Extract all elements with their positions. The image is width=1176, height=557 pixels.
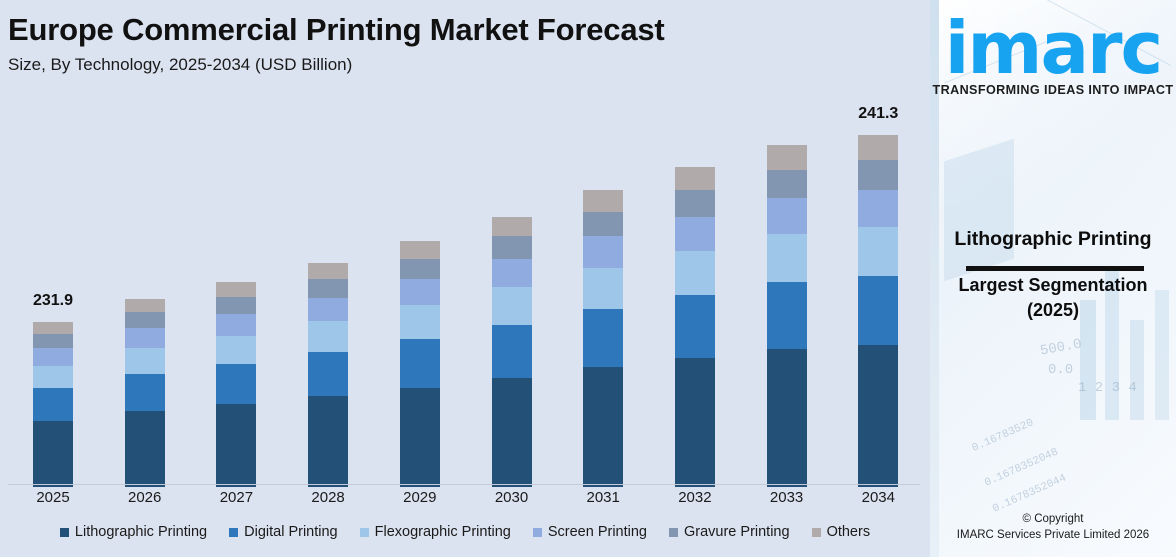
largest-segment-caption: Largest Segmentation	[930, 275, 1176, 296]
x-tick-label: 2034	[838, 489, 918, 506]
legend-item-lithographic-printing[interactable]: Lithographic Printing	[60, 524, 207, 540]
bar-segment[interactable]	[675, 295, 715, 358]
bar-segment[interactable]	[858, 160, 898, 190]
legend-label: Gravure Printing	[684, 524, 790, 540]
chart-panel: Europe Commercial Printing Market Foreca…	[0, 0, 930, 557]
bar-segment[interactable]	[216, 314, 256, 336]
bar-segment[interactable]	[216, 364, 256, 404]
stacked-bar[interactable]	[125, 299, 165, 487]
legend-swatch-icon	[812, 528, 821, 537]
bar-segment[interactable]	[125, 312, 165, 328]
bar-segment[interactable]	[767, 198, 807, 234]
stacked-bar[interactable]	[767, 145, 807, 487]
chart-subtitle: Size, By Technology, 2025-2034 (USD Bill…	[8, 55, 352, 75]
bar-segment[interactable]	[125, 411, 165, 487]
bar-segment[interactable]	[767, 349, 807, 487]
bar-segment[interactable]	[583, 367, 623, 487]
bar-segment[interactable]	[583, 190, 623, 211]
largest-segment-name: Lithographic Printing	[930, 228, 1176, 251]
bar-segment[interactable]	[125, 374, 165, 411]
bar-segment[interactable]	[33, 334, 73, 348]
bar-segment[interactable]	[400, 388, 440, 487]
bar-segment[interactable]	[308, 263, 348, 279]
bar-segment[interactable]	[492, 287, 532, 324]
legend-label: Others	[827, 524, 871, 540]
x-tick-label: 2029	[380, 489, 460, 506]
x-tick-label: 2027	[196, 489, 276, 506]
bar-segment[interactable]	[858, 227, 898, 276]
stacked-bar[interactable]	[675, 167, 715, 487]
legend-swatch-icon	[533, 528, 542, 537]
chart-title: Europe Commercial Printing Market Foreca…	[8, 12, 665, 48]
x-tick-label: 2032	[655, 489, 735, 506]
bar-segment[interactable]	[675, 217, 715, 251]
bar-segment[interactable]	[216, 336, 256, 364]
bar-segment[interactable]	[216, 282, 256, 297]
stacked-bar[interactable]	[308, 263, 348, 488]
bar-segment[interactable]	[216, 404, 256, 487]
bar-segment[interactable]	[767, 170, 807, 199]
bar-segment[interactable]	[858, 276, 898, 345]
stacked-bar[interactable]	[216, 282, 256, 487]
bar-segment[interactable]	[308, 396, 348, 487]
plot-area: 231.9241.3	[0, 95, 930, 487]
bar-segment[interactable]	[33, 421, 73, 487]
bar-segment[interactable]	[675, 251, 715, 295]
bar-segment[interactable]	[216, 297, 256, 314]
bar-value-label: 231.9	[0, 292, 113, 310]
bar-segment[interactable]	[400, 279, 440, 305]
stacked-bar[interactable]	[492, 217, 532, 487]
bar-segment[interactable]	[33, 348, 73, 365]
legend-label: Digital Printing	[244, 524, 338, 540]
bar-segment[interactable]	[492, 236, 532, 259]
bar-segment[interactable]	[492, 325, 532, 378]
bar-segment[interactable]	[583, 236, 623, 267]
x-tick-label: 2026	[105, 489, 185, 506]
legend-item-screen-printing[interactable]: Screen Printing	[533, 524, 647, 540]
imarc-logo: imarc TRANSFORMING IDEAS INTO IMPACT	[930, 16, 1176, 97]
legend-label: Screen Printing	[548, 524, 647, 540]
bar-segment[interactable]	[400, 339, 440, 388]
bar-segment[interactable]	[400, 305, 440, 339]
bar-segment[interactable]	[33, 322, 73, 334]
bar-segment[interactable]	[308, 321, 348, 352]
x-tick-label: 2028	[288, 489, 368, 506]
decorative-shape-4	[1130, 320, 1144, 420]
stacked-bar[interactable]	[33, 322, 73, 487]
legend-label: Flexographic Printing	[375, 524, 511, 540]
bar-segment[interactable]	[125, 328, 165, 348]
bar-segment[interactable]	[125, 348, 165, 374]
bar-segment[interactable]	[583, 309, 623, 367]
stacked-bar[interactable]	[583, 190, 623, 487]
bar-segment[interactable]	[858, 135, 898, 160]
bar-segment[interactable]	[583, 268, 623, 309]
bar-segment[interactable]	[675, 358, 715, 487]
bar-segment[interactable]	[308, 279, 348, 298]
largest-segment-year: (2025)	[930, 300, 1176, 321]
bar-segment[interactable]	[675, 167, 715, 190]
bar-segment[interactable]	[308, 298, 348, 322]
bar-segment[interactable]	[492, 378, 532, 487]
bar-segment[interactable]	[858, 345, 898, 487]
legend-swatch-icon	[669, 528, 678, 537]
legend-swatch-icon	[60, 528, 69, 537]
brand-panel: 0.1678352048 0.1678352044 0.16783520 1 2…	[930, 0, 1176, 557]
copyright-line-2: IMARC Services Private Limited 2026	[930, 529, 1176, 541]
bar-segment[interactable]	[400, 241, 440, 259]
x-tick-label: 2033	[747, 489, 827, 506]
stacked-bar[interactable]	[858, 135, 898, 487]
x-tick-label: 2025	[13, 489, 93, 506]
bar-segment[interactable]	[492, 217, 532, 237]
bar-segment[interactable]	[583, 212, 623, 237]
bar-segment[interactable]	[858, 190, 898, 227]
bar-segment[interactable]	[767, 282, 807, 349]
divider-rule	[966, 266, 1144, 271]
decorative-number-5: 0.0	[1048, 362, 1073, 378]
x-tick-label: 2031	[563, 489, 643, 506]
chart-legend: Lithographic PrintingDigital PrintingFle…	[0, 524, 930, 540]
decorative-number-4: 1 2 3 4	[1078, 380, 1137, 396]
legend-item-digital-printing[interactable]: Digital Printing	[229, 524, 338, 540]
copyright-line-1: © Copyright	[930, 513, 1176, 525]
bar-segment[interactable]	[492, 259, 532, 287]
legend-item-others[interactable]: Others	[812, 524, 871, 540]
bar-segment[interactable]	[33, 388, 73, 420]
bar-segment[interactable]	[125, 299, 165, 313]
legend-swatch-icon	[360, 528, 369, 537]
stacked-bar[interactable]	[400, 241, 440, 487]
legend-label: Lithographic Printing	[75, 524, 207, 540]
chart-screenshot: Europe Commercial Printing Market Foreca…	[0, 0, 1176, 557]
bar-segment[interactable]	[308, 352, 348, 396]
legend-swatch-icon	[229, 528, 238, 537]
bar-segment[interactable]	[767, 234, 807, 281]
bar-segment[interactable]	[675, 190, 715, 217]
legend-item-flexographic-printing[interactable]: Flexographic Printing	[360, 524, 511, 540]
bar-value-label: 241.3	[818, 105, 938, 123]
x-axis-line	[8, 484, 920, 485]
legend-item-gravure-printing[interactable]: Gravure Printing	[669, 524, 790, 540]
bar-segment[interactable]	[33, 366, 73, 389]
imarc-wordmark: imarc	[945, 16, 1161, 81]
bar-segment[interactable]	[400, 259, 440, 280]
decorative-shape-1	[944, 139, 1014, 282]
bar-segment[interactable]	[767, 145, 807, 170]
x-tick-label: 2030	[472, 489, 552, 506]
